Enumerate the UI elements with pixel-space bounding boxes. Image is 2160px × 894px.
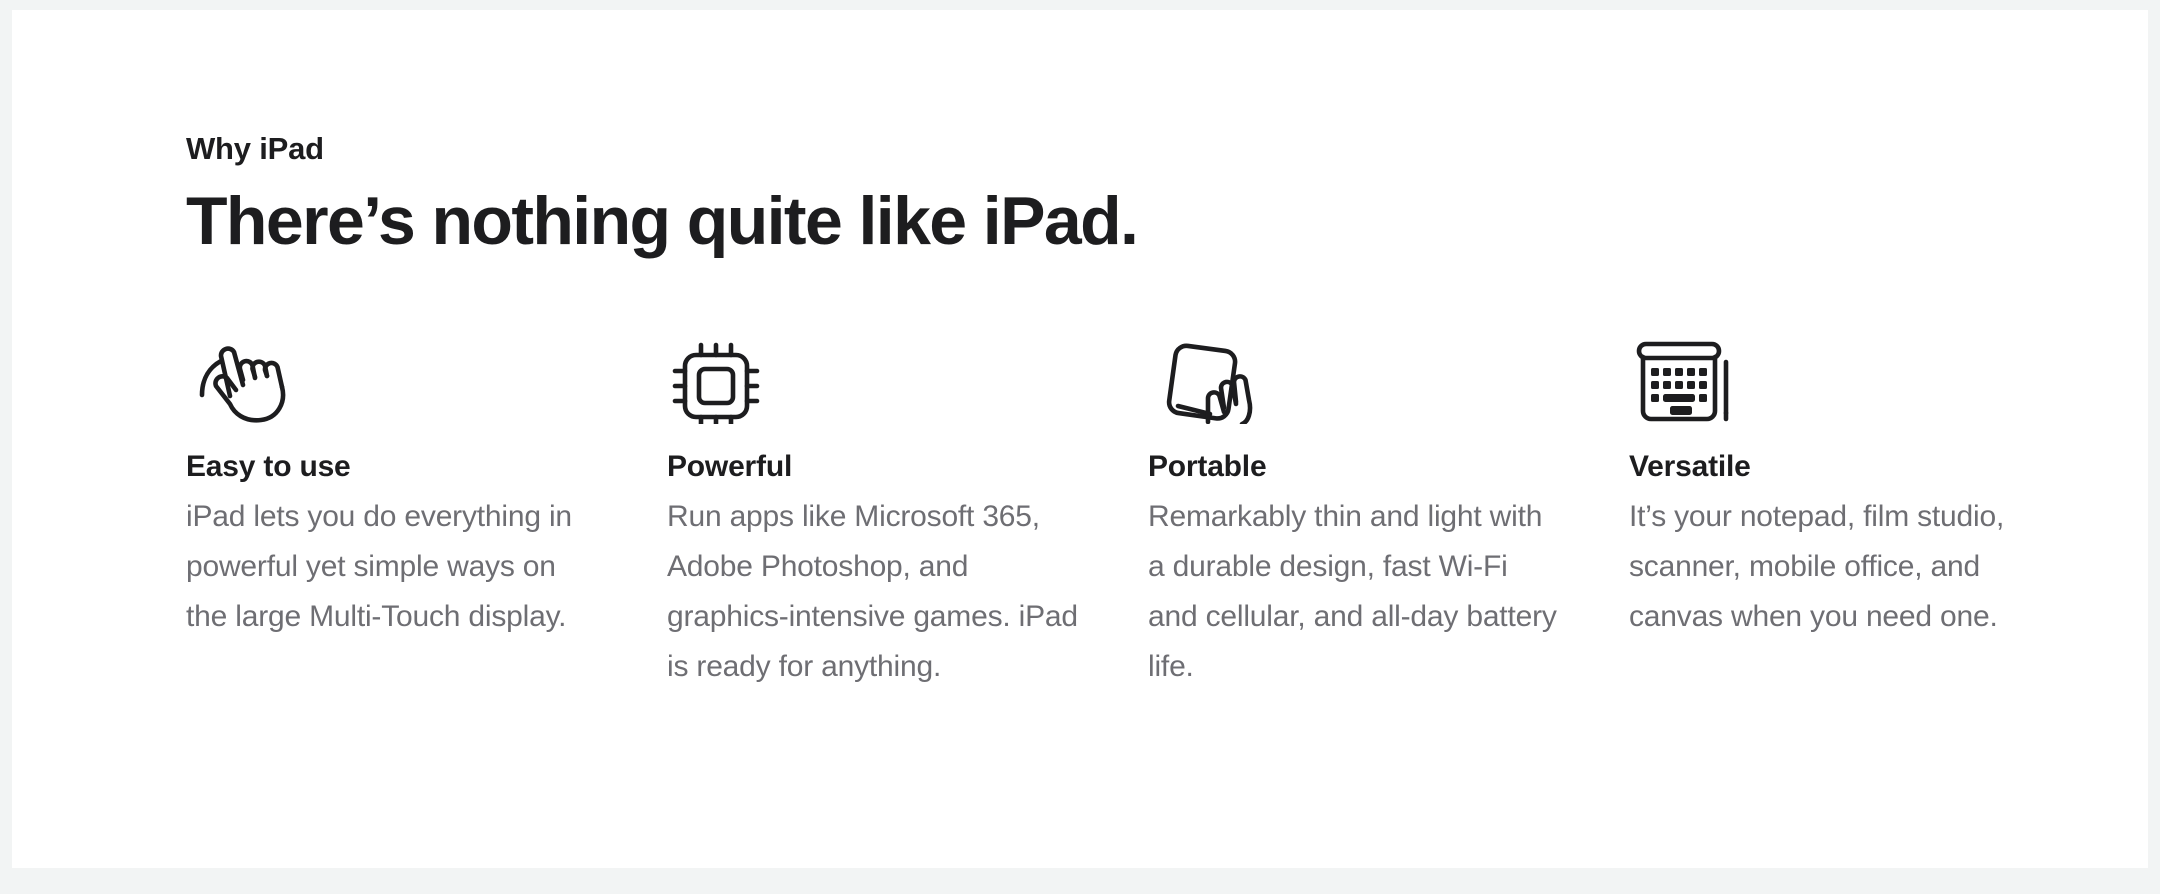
feature-item: Powerful Run apps like Microsoft 365, Ad…: [667, 340, 1148, 692]
section-header: Why iPad There’s nothing quite like iPad…: [186, 130, 2086, 260]
feature-title: Versatile: [1629, 448, 2040, 486]
page-title: There’s nothing quite like iPad.: [186, 182, 2086, 260]
feature-body: Remarkably thin and light with a durable…: [1148, 492, 1559, 692]
feature-body: Run apps like Microsoft 365, Adobe Photo…: [667, 492, 1078, 692]
feature-title: Easy to use: [186, 448, 597, 486]
keyboard-with-stylus-icon: [1629, 340, 1749, 424]
feature-title: Portable: [1148, 448, 1559, 486]
feature-title: Powerful: [667, 448, 1078, 486]
feature-item: Versatile It’s your notepad, film studio…: [1629, 340, 2110, 642]
feature-list: Easy to use iPad lets you do everything …: [186, 340, 2146, 692]
feature-body: iPad lets you do everything in powerful …: [186, 492, 597, 642]
section-eyebrow: Why iPad: [186, 130, 2086, 168]
processor-chip-icon: [667, 340, 787, 424]
feature-item: Easy to use iPad lets you do everything …: [186, 340, 667, 642]
tap-hand-icon: [186, 340, 306, 424]
content-card: Why iPad There’s nothing quite like iPad…: [12, 10, 2148, 868]
feature-item: Portable Remarkably thin and light with …: [1148, 340, 1629, 692]
hand-holding-tablet-icon: [1148, 340, 1268, 424]
feature-body: It’s your notepad, film studio, scanner,…: [1629, 492, 2040, 642]
